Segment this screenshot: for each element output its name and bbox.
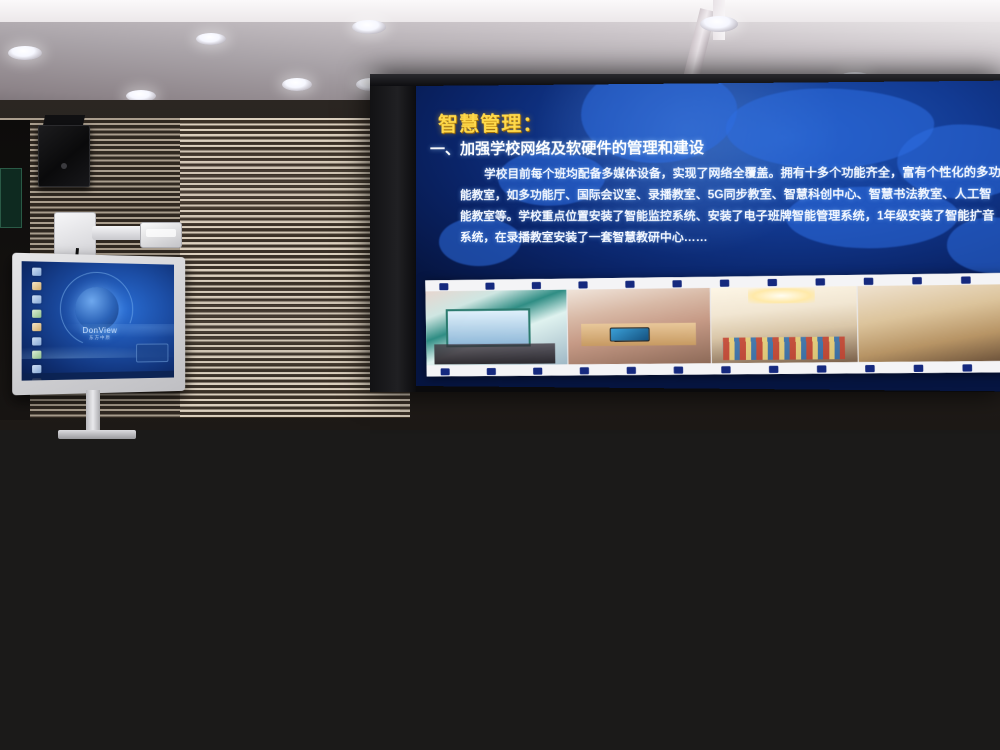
- desktop-icon-7[interactable]: [32, 351, 41, 359]
- desk-row-mid-3: [0, 560, 190, 618]
- filmstrip-photo-row: [425, 284, 1000, 365]
- slide-photo-filmstrip: [425, 273, 1000, 377]
- desktop-icon-3[interactable]: [32, 295, 41, 303]
- presentation-slide[interactable]: 智慧管理： 一、加强学校网络及软硬件的管理和建设 学校目前每个班均配备多媒体设备…: [416, 81, 1000, 392]
- desktop-icon-5[interactable]: [32, 323, 41, 331]
- photo-calligraphy-room: [857, 284, 1000, 362]
- desktop-icon-column[interactable]: [28, 267, 73, 380]
- whiteboard-base: [58, 430, 136, 439]
- desktop-icon-4[interactable]: [32, 309, 41, 317]
- whiteboard-screen[interactable]: DonView 东方中原: [22, 261, 174, 380]
- lecture-hall-photo: DonView 东方中原: [0, 0, 1000, 750]
- whiteboard-stand: [86, 390, 100, 434]
- desktop-icon-8[interactable]: [32, 364, 41, 372]
- downlight-7: [700, 16, 738, 32]
- desk-row-mid-2: [0, 502, 182, 560]
- downlight-4: [282, 78, 312, 91]
- slide-body-text: 学校目前每个班均配备多媒体设备，实现了网络全覆盖。拥有十多个功能齐全，富有个性化…: [460, 161, 1000, 248]
- downlight-1: [8, 46, 42, 60]
- door-frame: [0, 168, 22, 228]
- chair-mid-3: [0, 714, 68, 750]
- desktop-widget[interactable]: [136, 343, 168, 362]
- led-screen-bezel: [370, 74, 416, 392]
- desktop-icon-1[interactable]: [32, 268, 41, 276]
- interactive-whiteboard[interactable]: DonView 东方中原: [12, 253, 185, 396]
- photo-corridor-display: [711, 286, 859, 363]
- slide-title: 智慧管理：: [438, 107, 544, 137]
- downlight-2: [196, 33, 226, 45]
- photo-classroom-smartboard: [425, 290, 568, 366]
- wall-speaker: [38, 125, 90, 187]
- photo-students-tablets: [567, 288, 712, 364]
- ceiling-soffit: [0, 0, 1000, 22]
- desktop-taskbar[interactable]: [22, 371, 174, 381]
- projector-lens-unit: [140, 222, 182, 248]
- chair-mid-1: [0, 618, 64, 666]
- desktop-icon-6[interactable]: [32, 337, 41, 345]
- chair-mid-2: [0, 666, 64, 714]
- downlight-5: [352, 20, 386, 34]
- desktop-icon-2[interactable]: [32, 281, 41, 289]
- desk-row-mid-1: [0, 444, 160, 502]
- slide-subtitle: 一、加强学校网络及软硬件的管理和建设: [430, 136, 704, 159]
